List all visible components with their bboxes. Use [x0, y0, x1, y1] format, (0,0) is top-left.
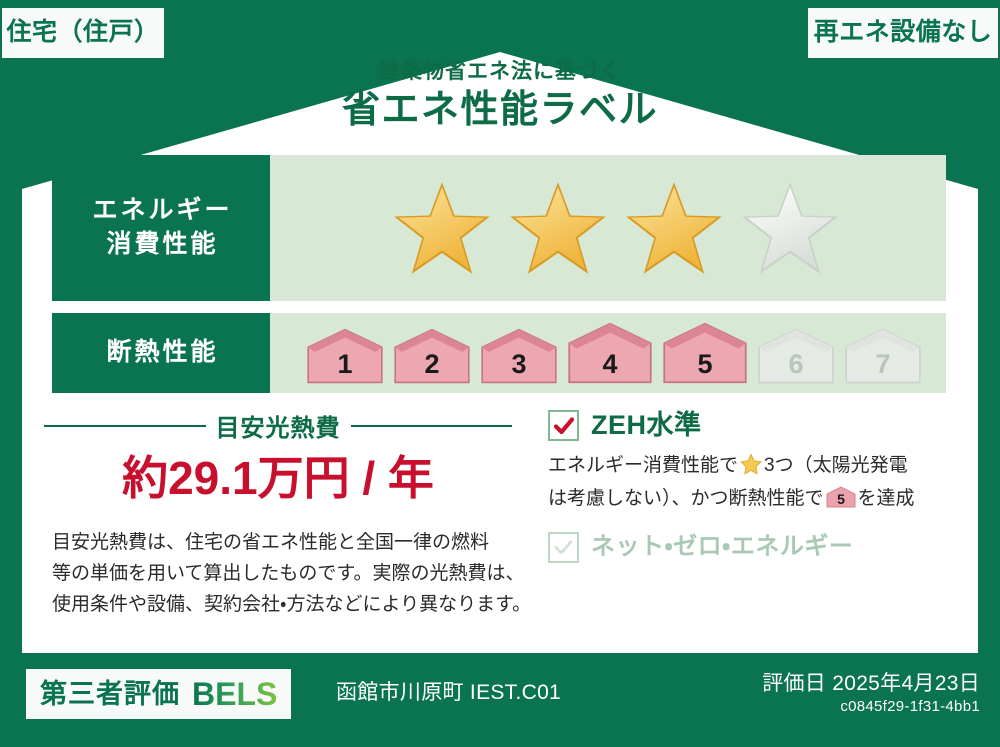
energy-consumption-rating [270, 155, 946, 301]
zeh-header: ZEH水準 [548, 410, 948, 441]
svg-text:5: 5 [837, 491, 845, 507]
insulation-level-number: 3 [477, 351, 561, 378]
badge-building-type: 住宅（住戸） [2, 8, 164, 58]
bels-japanese-label: 第三者評価 [40, 681, 180, 708]
energy-consumption-row: エネルギー 消費性能 [52, 155, 946, 301]
zeh-title: ZEH水準 [591, 412, 702, 439]
insulation-level-active: 4 [564, 322, 656, 384]
star-icon-filled [622, 178, 726, 278]
insulation-level-active: 1 [303, 328, 387, 384]
star-icon-empty [738, 178, 842, 278]
zeh-checkbox-checked [548, 410, 579, 441]
zeh-desc-2a: は考慮しない）、かつ断熱性能で [548, 488, 824, 509]
heading-rule-left [44, 425, 206, 427]
zeh-block: ZEH水準 エネルギー消費性能で3つ（太陽光発電 は考慮しない）、かつ断熱性能で… [548, 410, 948, 563]
cost-note-line-3: 使用条件や設備、契約会社・方法などにより異なります。 [52, 590, 522, 621]
bels-plate: 第三者評価 BELS [26, 669, 291, 719]
utility-cost-block: 目安光熱費 約29.1万円 / 年 [44, 408, 512, 504]
inline-star-icon [740, 453, 762, 484]
evaluation-date: 評価日 2025年4月23日 [762, 671, 980, 697]
star-icon-filled [506, 178, 610, 278]
insulation-level-inactive: 7 [841, 328, 925, 384]
site-name: 函館市川原町 IEST.C01 [336, 682, 561, 703]
zeh-desc-2b: を達成 [858, 488, 915, 509]
net-zero-checkbox-unchecked [548, 532, 579, 563]
utility-cost-heading-text: 目安光熱費 [216, 408, 341, 443]
evaluation-info: 評価日 2025年4月23日 c0845f29-1f31-4bb1 [762, 671, 980, 717]
insulation-level-active: 3 [477, 328, 561, 384]
zeh-description-line-1: エネルギー消費性能で3つ（太陽光発電 [548, 451, 948, 484]
cost-note-line-1: 目安光熱費は、住宅の省エネ性能と全国一律の燃料 [52, 528, 522, 559]
utility-cost-heading: 目安光熱費 [44, 408, 512, 443]
energy-label-line2: 消費性能 [103, 228, 218, 262]
zeh-description: エネルギー消費性能で3つ（太陽光発電 は考慮しない）、かつ断熱性能で5を達成 [548, 451, 948, 518]
star-rating [390, 178, 842, 278]
insulation-level-number: 7 [841, 351, 925, 378]
net-zero-energy-label: ネット・ゼロ・エネルギー [591, 535, 853, 559]
cost-note-line-2: 等の単価を用いて算出したものです。実際の光熱費は、 [52, 559, 522, 590]
energy-consumption-label: エネルギー 消費性能 [52, 155, 270, 301]
insulation-level-inactive: 6 [754, 328, 838, 384]
bels-logo: BELS [192, 678, 277, 710]
energy-label-line1: エネルギー [89, 194, 232, 228]
badge-renewable-equipment: 再エネ設備なし [808, 8, 998, 58]
inline-house-level-icon: 5 [826, 486, 856, 517]
utility-cost-value: 約29.1万円 / 年 [44, 453, 512, 504]
footer-bar: 第三者評価 BELS 函館市川原町 IEST.C01 評価日 2025年4月23… [0, 653, 1000, 747]
zeh-desc-1b: 3つ（太陽光発電 [764, 455, 908, 476]
zeh-desc-1a: エネルギー消費性能で [548, 455, 738, 476]
evaluation-id: c0845f29-1f31-4bb1 [762, 697, 980, 717]
insulation-performance-row: 断熱性能 1234567 [52, 313, 946, 393]
net-zero-energy-row: ネット・ゼロ・エネルギー [548, 532, 948, 563]
insulation-level-active: 5 [659, 322, 751, 384]
insulation-level-scale: 1234567 [303, 322, 925, 384]
insulation-performance-label: 断熱性能 [52, 313, 270, 393]
insulation-level-number: 2 [390, 351, 474, 378]
insulation-level-number: 4 [564, 351, 656, 378]
zeh-description-line-2: は考慮しない）、かつ断熱性能で5を達成 [548, 484, 948, 517]
insulation-level-number: 1 [303, 351, 387, 378]
heading-rule-right [351, 425, 513, 427]
insulation-rating: 1234567 [270, 313, 946, 393]
insulation-level-active: 2 [390, 328, 474, 384]
star-icon-filled [390, 178, 494, 278]
energy-performance-label: 住宅（住戸） 再エネ設備なし 建築物省エネ法に基づく 省エネ性能ラベル エネルギ… [0, 0, 1000, 747]
insulation-level-number: 5 [659, 351, 751, 378]
utility-cost-note: 目安光熱費は、住宅の省エネ性能と全国一律の燃料 等の単価を用いて算出したものです… [52, 528, 522, 620]
insulation-level-number: 6 [754, 351, 838, 378]
